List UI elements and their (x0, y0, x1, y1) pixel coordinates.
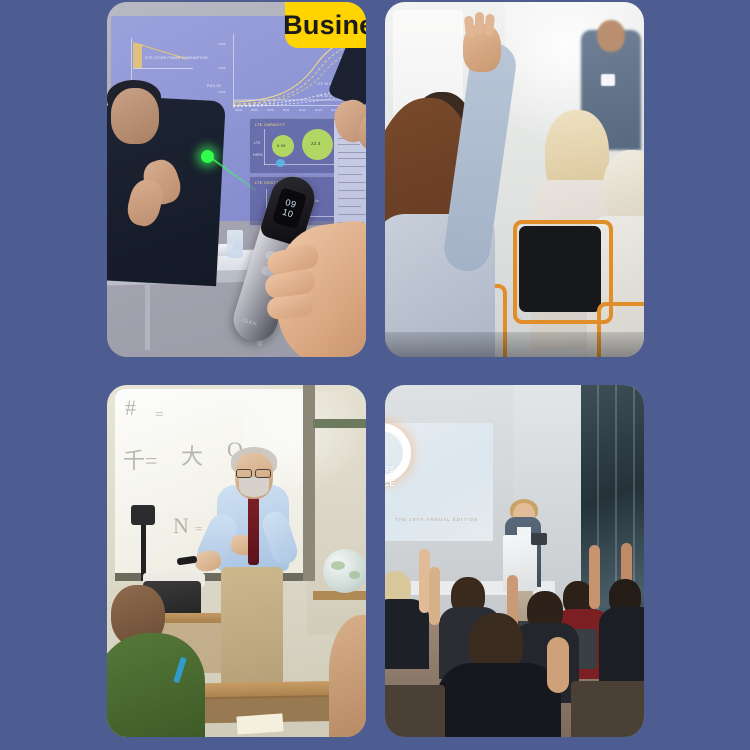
businessman-head (111, 88, 159, 144)
slide-subtitle: THE 10TH ANNUAL EDITION (395, 517, 478, 522)
chart-x-tick: 2008 (235, 108, 242, 112)
raised-arm (589, 545, 600, 609)
foreground-audience-body (437, 663, 561, 737)
card-title: LTE CAPACITY (255, 122, 285, 127)
chart-y-tick: 3,000 (218, 42, 226, 46)
board-frame (303, 385, 315, 581)
bubble-value: 6.99 (277, 143, 286, 148)
chart-y-tick: 2,000 (218, 66, 226, 70)
board-writing: = (155, 407, 163, 424)
slide-title-line: OVATORS (385, 465, 395, 474)
bubble-value: 22.4 (311, 141, 321, 146)
chair-back (519, 226, 601, 312)
chart-y-tick: 1,000 (218, 90, 226, 94)
board-writing: 大 (181, 439, 203, 471)
laser-dot (201, 150, 214, 163)
conference-slide: BAL OVATORS FERENCE THE 10TH ANNUAL EDIT… (385, 423, 493, 541)
raised-arm (429, 567, 440, 625)
teaching-photo: # = 千= 大 Q N = (107, 385, 366, 737)
chart-x-tick: 2012 (299, 108, 306, 112)
audience-chair (385, 685, 445, 737)
axis-caption: PoPs 3G (207, 84, 221, 88)
label-badge-business: Business (285, 2, 366, 48)
student-green-shirt (107, 633, 205, 737)
panel-speech[interactable]: BAL OVATORS FERENCE THE 10TH ANNUAL EDIT… (385, 385, 644, 737)
panel-training[interactable]: Training (385, 2, 644, 357)
bar-label: SITE COVER POWER CONSUMPTION (145, 56, 185, 60)
board-writing: N (173, 513, 189, 539)
chart-x-tick: 2011 (283, 108, 289, 112)
glasses-left-lens (236, 469, 252, 478)
wall-shelf (313, 419, 366, 428)
teacher-beard (239, 477, 269, 497)
clicker-brand-mark: CLICK (242, 318, 258, 328)
instructor-head (597, 20, 625, 52)
board-writing: = (195, 521, 202, 537)
audience-chair (571, 681, 644, 737)
slide-ring-graphic (385, 423, 411, 483)
globe (323, 549, 366, 593)
clicker-display: 09 10 (272, 187, 307, 229)
board-writing: 千= (123, 443, 157, 475)
instructor-name-badge (601, 74, 615, 86)
audience-body (599, 607, 644, 681)
teacher-trousers (221, 567, 283, 687)
chart-x-tick: 2009 (251, 108, 258, 112)
chart-x-tick: 2013 (315, 108, 322, 112)
lectern-monitor (531, 533, 547, 545)
slide-title-line: FERENCE (385, 479, 395, 488)
chart-x-tick: 2010 (267, 108, 274, 112)
business-photo: 3,000 2,000 1,000 2008 2009 2010 2011 20… (107, 2, 366, 357)
finger (475, 12, 484, 34)
table-leg (145, 280, 150, 350)
foreground-shadow (385, 332, 644, 357)
clicker-display-line2: 10 (281, 207, 294, 220)
panel-business[interactable]: 3,000 2,000 1,000 2008 2009 2010 2011 20… (107, 2, 366, 357)
panel-teaching[interactable]: # = 千= 大 Q N = (107, 385, 366, 737)
scenario-grid-page: 3,000 2,000 1,000 2008 2009 2010 2011 20… (0, 0, 750, 750)
water-glass (227, 230, 243, 258)
foreground-raised-hand (547, 637, 569, 693)
glasses-right-lens (255, 469, 271, 478)
projector-head (131, 505, 155, 525)
speech-photo: BAL OVATORS FERENCE THE 10TH ANNUAL EDIT… (385, 385, 644, 737)
notebook-paper (236, 713, 283, 734)
training-photo (385, 2, 644, 357)
teacher-tie (248, 497, 259, 565)
label-text-business: Business (283, 12, 366, 48)
board-writing: # (125, 395, 136, 421)
lte-capacity-card: LTE CAPACITY 6.99 22.4 LTE HSPA (249, 118, 341, 174)
